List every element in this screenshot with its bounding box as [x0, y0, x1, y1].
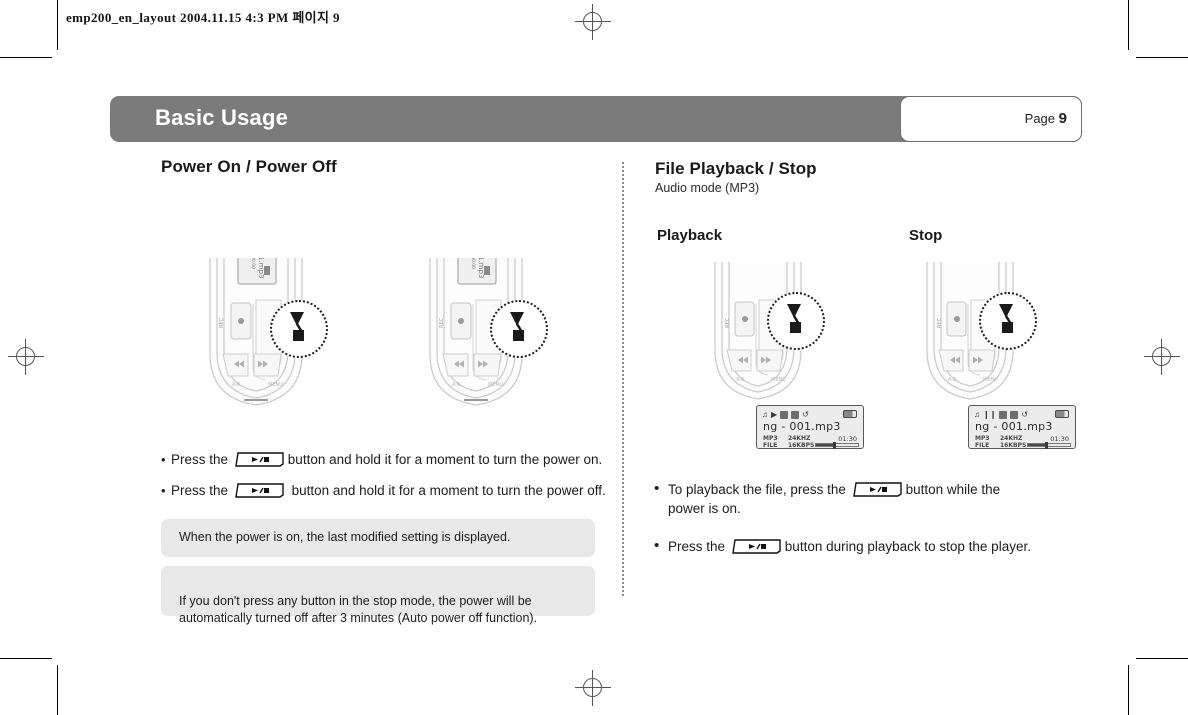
crop-mark-bottom-left-vertical: [57, 665, 58, 715]
note-box-2-text: If you don't press any button in the sto…: [179, 594, 537, 625]
playback-subsection-label: Playback: [657, 227, 722, 244]
battery-icon: [1055, 410, 1069, 418]
svg-text:MENU: MENU: [983, 377, 998, 383]
crop-mark-top-right-horizontal: [1136, 57, 1188, 58]
bullet-dot: •: [654, 479, 668, 498]
bullet-dot: •: [654, 536, 668, 555]
mp3-player-illustration-stop: REC A-B MENU: [917, 262, 1047, 409]
right-bullet-2-after: button during playback to stop the playe…: [785, 539, 1031, 554]
callout-highlight-play-stop: [270, 300, 328, 358]
right-section-subheading: Audio mode (MP3): [655, 181, 759, 195]
page-title: Basic Usage: [155, 105, 288, 131]
note-box-2: If you don't press any button in the sto…: [161, 566, 595, 616]
lcd-track-name: ng - 001.mp3: [975, 420, 1053, 433]
lcd-rate: 24KHZ 16KBPS: [1000, 435, 1026, 449]
n-mode-icon: [791, 411, 799, 419]
callout-highlight-play-stop: [767, 292, 825, 350]
repeat-icon: ↺: [802, 410, 809, 419]
page-indicator: Page 9: [1025, 110, 1067, 127]
repeat-icon: ↺: [1021, 410, 1028, 419]
svg-text:A-B: A-B: [232, 382, 241, 388]
crop-mark-bottom-right-vertical: [1128, 665, 1129, 715]
battery-icon: [843, 410, 857, 418]
registration-mark-bottom: [575, 670, 611, 706]
music-note-icon: ♫: [762, 410, 768, 419]
left-bullet-2-before: Press the: [171, 483, 228, 498]
lcd-time: 01:30: [1050, 435, 1069, 443]
music-note-icon: ♫: [974, 410, 980, 419]
left-bullet-2-after: button and hold it for a moment to turn …: [292, 483, 606, 498]
svg-text:REC: REC: [219, 317, 225, 328]
play-stop-key-icon: [234, 452, 286, 467]
eq-icon: [999, 411, 1007, 419]
svg-text:REC: REC: [937, 317, 943, 328]
lcd-status-icons: ♫ ❙❙ ↺: [974, 409, 1028, 420]
svg-text:A-B: A-B: [948, 377, 957, 383]
note-box-1: When the power is on, the last modified …: [161, 519, 595, 557]
right-section-heading: File Playback / Stop: [655, 159, 817, 179]
bullet-dot: •: [161, 481, 171, 500]
right-bullet-2: •Press the button during playback to sto…: [654, 536, 1031, 556]
lcd-format: MP3 FILE: [763, 435, 778, 449]
right-bullet-1-after: button while the: [906, 482, 1001, 497]
lcd-status-icons: ♫ ▶ ↺: [762, 409, 809, 420]
page-label: Page: [1025, 111, 1055, 126]
svg-text:REC: REC: [439, 317, 445, 328]
svg-text:00:00: 00:00: [470, 258, 476, 269]
svg-text:MENU: MENU: [771, 377, 786, 383]
lcd-progress-bar: [815, 443, 859, 447]
svg-text:00:00: 00:00: [250, 258, 256, 269]
stop-subsection-label: Stop: [909, 227, 942, 244]
play-stop-key-icon: [234, 483, 286, 498]
left-bullet-2: •Press the button and hold it for a mome…: [161, 481, 606, 500]
lcd-screen-playback: ♫ ▶ ↺ ng - 001.mp3 MP3 FILE 24KHZ 16KBPS…: [756, 405, 864, 449]
right-bullet-1-before: To playback the file, press the: [668, 482, 846, 497]
svg-text:1.mp3: 1.mp3: [257, 258, 265, 278]
svg-text:REC: REC: [725, 317, 731, 328]
registration-mark-top: [575, 4, 611, 40]
mp3-player-illustration-power-off: 1.mp3 00:00 REC A-B MENU: [418, 258, 558, 415]
crop-mark-bottom-left-horizontal: [0, 658, 52, 659]
play-icon: ▶: [771, 410, 777, 419]
lcd-format: MP3 FILE: [975, 435, 990, 449]
svg-text:A-B: A-B: [736, 377, 745, 383]
svg-text:MENU: MENU: [268, 382, 283, 388]
file-slug: emp200_en_layout 2004.11.15 4:3 PM 페이지 9: [66, 7, 340, 26]
svg-text:MENU: MENU: [488, 382, 503, 388]
registration-mark-left: [8, 339, 44, 375]
right-bullet-2-before: Press the: [668, 539, 725, 554]
right-bullet-1: •To playback the file, press the button …: [654, 479, 1000, 518]
page-number: 9: [1059, 110, 1067, 127]
lcd-rate: 24KHZ 16KBPS: [788, 435, 814, 449]
bullet-dot: •: [161, 450, 171, 469]
crop-mark-top-right-vertical: [1128, 0, 1129, 50]
lcd-track-name: ng - 001.mp3: [763, 420, 841, 433]
eq-icon: [780, 411, 788, 419]
n-mode-icon: [1010, 411, 1018, 419]
svg-text:A-B: A-B: [452, 382, 461, 388]
crop-mark-bottom-right-horizontal: [1136, 658, 1188, 659]
left-bullet-1-after: button and hold it for a moment to turn …: [288, 452, 602, 467]
page-title-bar: Basic Usage Page 9: [110, 96, 1082, 142]
left-bullet-1: •Press the button and hold it for a mome…: [161, 450, 602, 469]
left-bullet-1-before: Press the: [171, 452, 228, 467]
lcd-progress-bar: [1027, 443, 1071, 447]
play-stop-key-icon: [731, 539, 783, 554]
lcd-time: 01:30: [838, 435, 857, 443]
mp3-player-illustration-power-on: 1.mp3 00:00 REC A-B MENU: [198, 258, 338, 415]
play-stop-key-icon: [852, 482, 904, 497]
right-bullet-1-line2: power is on.: [668, 499, 1000, 518]
pause-icon: ❙❙: [983, 410, 996, 419]
crop-mark-top-left-horizontal: [0, 57, 52, 58]
registration-mark-right: [1144, 339, 1180, 375]
page-number-chip: Page 9: [900, 96, 1082, 142]
svg-text:1.mp3: 1.mp3: [477, 258, 485, 278]
callout-highlight-play-stop: [979, 292, 1037, 350]
lcd-screen-stop: ♫ ❙❙ ↺ ng - 001.mp3 MP3 FILE 24KHZ 16KBP…: [968, 405, 1076, 449]
note-box-1-text: When the power is on, the last modified …: [179, 530, 510, 544]
left-section-heading: Power On / Power Off: [161, 157, 337, 177]
mp3-player-illustration-playback: REC A-B MENU: [705, 262, 835, 409]
column-divider: [622, 162, 624, 596]
callout-highlight-play-stop: [490, 300, 548, 358]
crop-mark-top-left-vertical: [57, 0, 58, 50]
